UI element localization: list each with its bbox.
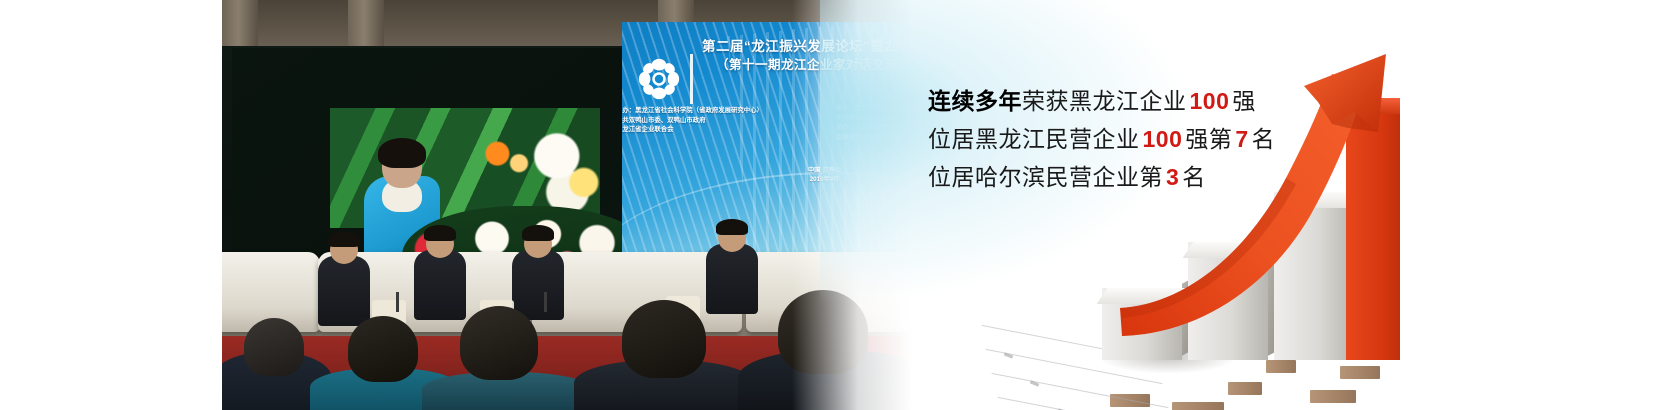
flower-emblem-icon [636,56,682,102]
promo-banner: 第二届“龙江振兴发展论坛”暨2019年龙江百强企业年会 （第十一期龙江企业家对话… [0,0,1680,410]
panelist [706,244,758,314]
panelist-hair [328,231,360,247]
headline-line1-bold: 连续多年 [928,88,1022,114]
photo-fade-edge [792,0,912,410]
speaker-hair [378,138,426,168]
microphone [544,292,547,312]
headline-line2-number-1: 100 [1140,126,1186,152]
banner-organizers-left: 主办：黑龙江省社会科学院（省政府发展研究中心） 中共双鸭山市委、双鸭山市政府 黑… [622,106,763,135]
panelist [318,256,370,326]
headline-line-2: 位居黑龙江民营企业100强第7名 [928,120,1348,158]
hall-pillar [222,0,258,48]
hall-pillar [348,0,384,48]
conference-photo: 第二届“龙江振兴发展论坛”暨2019年龙江百强企业年会 （第十一期龙江企业家对话… [222,0,912,410]
headline-line3-number: 3 [1163,164,1182,190]
microphone [396,292,399,312]
audience-head [348,316,418,382]
headline-line-1: 连续多年荣获黑龙江企业100强 [928,82,1348,120]
headline-line2-text-c: 名 [1252,126,1276,152]
headline-line3-text-b: 名 [1182,164,1206,190]
audience-head [460,306,538,380]
headline-line2-text-a: 位居黑龙江民营企业 [928,126,1140,152]
headline-line3-text-a: 位居哈尔滨民营企业第 [928,164,1163,190]
headline-line-3: 位居哈尔滨民营企业第3名 [928,158,1348,196]
banner-divider [690,54,693,104]
panelist [414,250,466,320]
headline-block: 连续多年荣获黑龙江企业100强 位居黑龙江民营企业100强第7名 位居哈尔滨民营… [928,82,1348,196]
panelist-hair [522,225,554,241]
headline-line1-text-a: 荣获黑龙江企业 [1022,88,1187,114]
headline-line1-number: 100 [1187,88,1233,114]
headline-line2-text-b: 强第 [1185,126,1232,152]
panelist [512,250,564,320]
headline-line1-text-b: 强 [1232,88,1256,114]
panelist-hair [716,219,748,235]
audience-head [622,300,706,378]
audience-head [244,318,304,376]
headline-line2-number-2: 7 [1232,126,1251,152]
right-white-edge [1400,0,1680,410]
panelist-hair [424,225,456,241]
